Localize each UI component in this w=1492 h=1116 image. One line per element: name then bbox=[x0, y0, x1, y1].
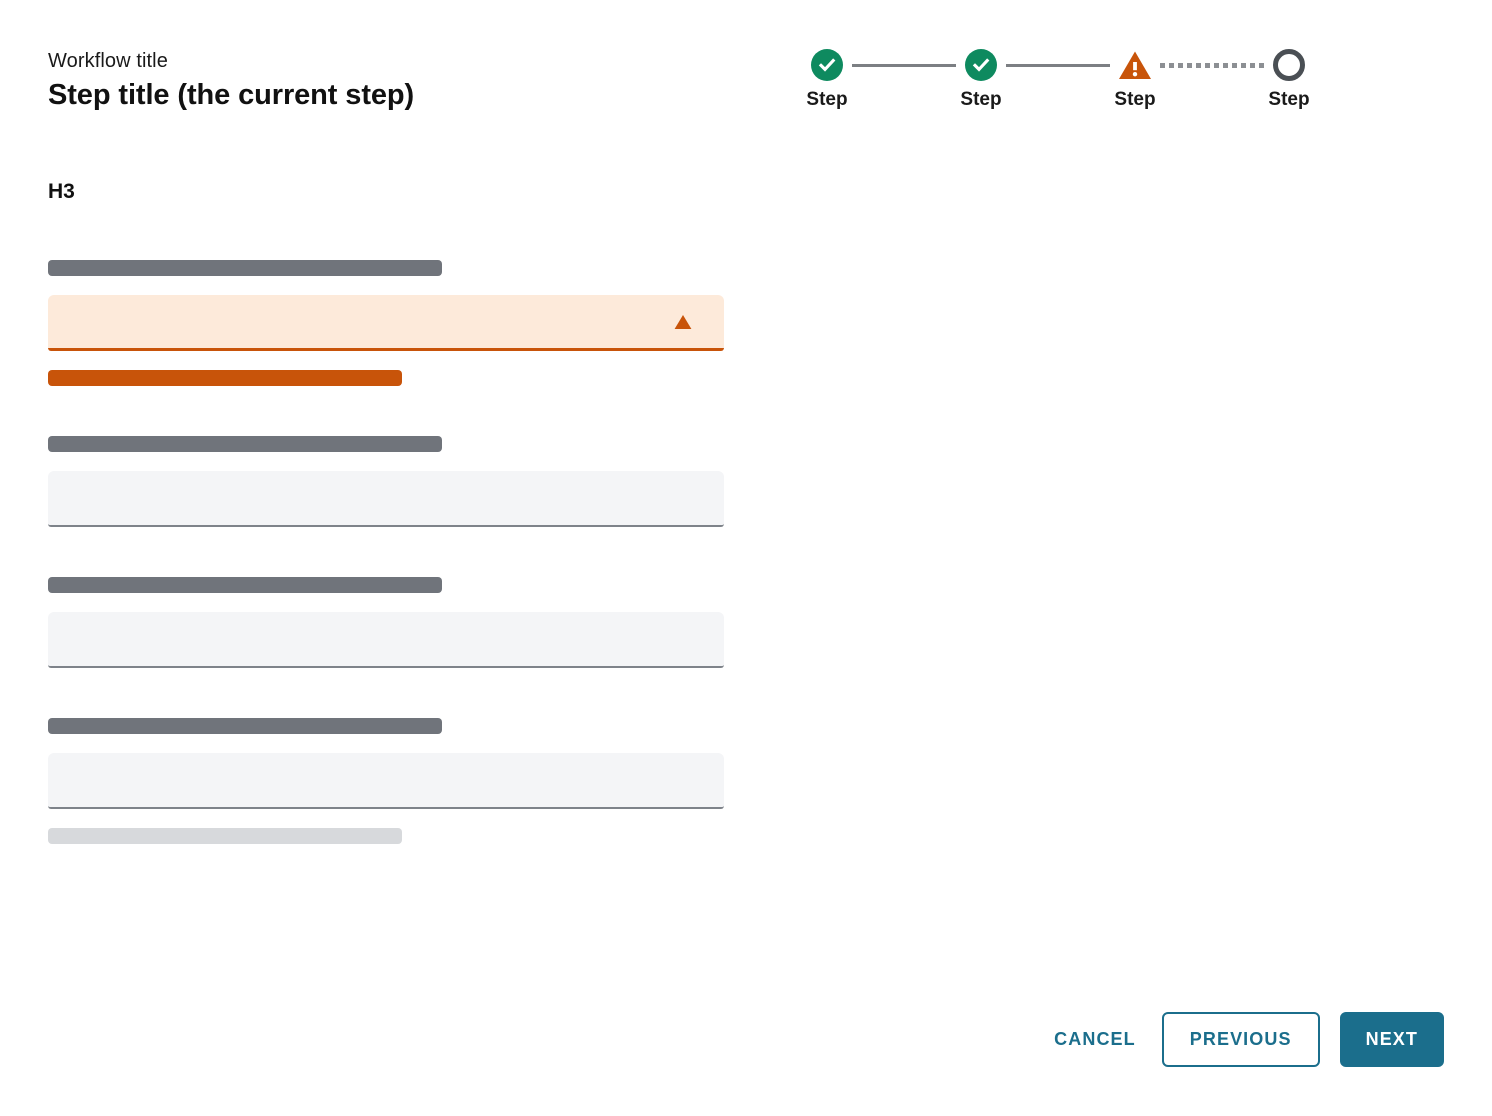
form-field-error bbox=[48, 260, 724, 386]
connector-solid-line bbox=[1006, 64, 1110, 67]
stepper-step-4[interactable]: Step bbox=[1262, 44, 1316, 112]
stepper-marker-1 bbox=[811, 44, 843, 86]
stepper-step-3[interactable]: Step bbox=[1108, 44, 1162, 112]
check-circle-icon bbox=[965, 49, 997, 81]
connector-dotted-line bbox=[1160, 63, 1264, 68]
field-error-message-placeholder bbox=[48, 370, 402, 386]
field-three-input[interactable] bbox=[48, 612, 724, 668]
stepper-label-1: Step bbox=[806, 88, 847, 112]
section-heading: H3 bbox=[48, 178, 724, 206]
field-label-placeholder bbox=[48, 577, 442, 593]
step-progress-indicator: Step Step bbox=[800, 44, 1316, 112]
warning-triangle-icon bbox=[1118, 50, 1152, 80]
warning-triangle-icon bbox=[674, 314, 692, 330]
form-field-two bbox=[48, 436, 724, 527]
stepper-marker-2 bbox=[965, 44, 997, 86]
field-label-placeholder bbox=[48, 718, 442, 734]
cancel-button[interactable]: CANCEL bbox=[1048, 1015, 1142, 1064]
form-actions: CANCEL PREVIOUS NEXT bbox=[1048, 1012, 1444, 1067]
field-four-input[interactable] bbox=[48, 753, 724, 809]
workflow-title: Workflow title bbox=[48, 48, 414, 74]
workflow-step-page: Workflow title Step title (the current s… bbox=[0, 0, 1492, 1116]
form-field-three bbox=[48, 577, 724, 668]
check-circle-icon bbox=[811, 49, 843, 81]
field-label-placeholder bbox=[48, 436, 442, 452]
stepper-connector-2 bbox=[1006, 44, 1110, 86]
stepper-connector-1 bbox=[852, 44, 956, 86]
form-content: H3 bbox=[48, 178, 724, 844]
stepper-step-1[interactable]: Step bbox=[800, 44, 854, 112]
field-error-input[interactable] bbox=[48, 295, 724, 351]
page-title: Step title (the current step) bbox=[48, 76, 414, 114]
stepper-label-4: Step bbox=[1268, 88, 1309, 112]
previous-button[interactable]: PREVIOUS bbox=[1162, 1012, 1320, 1067]
stepper-label-3: Step bbox=[1114, 88, 1155, 112]
next-button[interactable]: NEXT bbox=[1340, 1012, 1444, 1067]
connector-solid-line bbox=[852, 64, 956, 67]
stepper-connector-3 bbox=[1160, 44, 1264, 86]
form-field-four bbox=[48, 718, 724, 844]
empty-circle-icon bbox=[1273, 49, 1305, 81]
stepper-marker-3 bbox=[1118, 44, 1152, 86]
stepper-marker-4 bbox=[1273, 44, 1305, 86]
field-label-placeholder bbox=[48, 260, 442, 276]
stepper-label-2: Step bbox=[960, 88, 1001, 112]
stepper-step-2[interactable]: Step bbox=[954, 44, 1008, 112]
page-header: Workflow title Step title (the current s… bbox=[48, 48, 414, 114]
field-helper-text-placeholder bbox=[48, 828, 402, 844]
field-two-input[interactable] bbox=[48, 471, 724, 527]
